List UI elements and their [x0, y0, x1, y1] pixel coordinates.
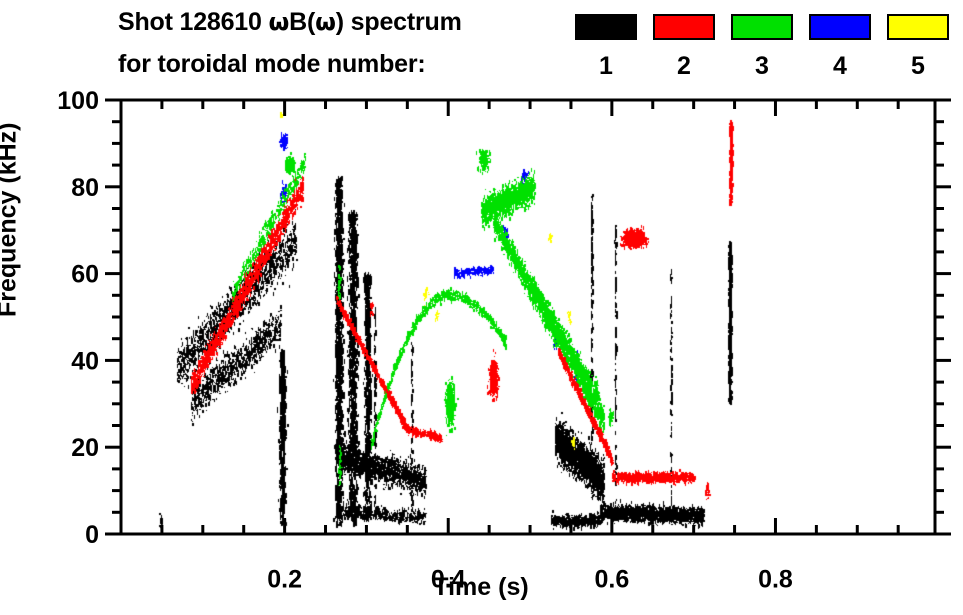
x-axis-title: Time (s): [433, 573, 528, 602]
title-b-text: B(: [289, 8, 315, 36]
legend-swatch-black: [575, 14, 637, 40]
title-spectrum-text: ) spectrum: [336, 8, 462, 36]
legend-entry-2: 2: [653, 0, 715, 80]
y-tick-label-80: 80: [71, 174, 99, 202]
figure-header: Shot 128610 ωB(ω) spectrum for toroidal …: [0, 0, 963, 96]
legend-entry-5: 5: [887, 0, 949, 80]
x-tick-label-0.8: 0.8: [758, 566, 793, 594]
legend: 12345: [575, 0, 963, 96]
spectrogram-canvas: [121, 100, 935, 534]
legend-label-2: 2: [653, 52, 715, 80]
y-tick-label-0: 0: [85, 521, 99, 549]
legend-swatch-red: [653, 14, 715, 40]
y-tick-label-40: 40: [71, 347, 99, 375]
title-shot-text: Shot 128610: [118, 8, 268, 36]
legend-label-5: 5: [887, 52, 949, 80]
figure-title-line-1: Shot 128610 ωB(ω) spectrum: [118, 8, 462, 37]
x-tick-label-0.6: 0.6: [594, 566, 629, 594]
legend-swatch-blue: [809, 14, 871, 40]
legend-label-3: 3: [731, 52, 793, 80]
y-tick-label-20: 20: [71, 434, 99, 462]
figure-title-line-2: for toroidal mode number:: [118, 50, 426, 79]
omega-symbol-1: ω: [268, 8, 289, 36]
spectrogram-figure: Shot 128610 ωB(ω) spectrum for toroidal …: [0, 0, 963, 615]
plot-area: [121, 100, 935, 534]
legend-label-1: 1: [575, 52, 637, 80]
legend-entry-4: 4: [809, 0, 871, 80]
omega-symbol-2: ω: [315, 8, 336, 36]
legend-swatch-yellow: [887, 14, 949, 40]
legend-label-4: 4: [809, 52, 871, 80]
legend-entry-1: 1: [575, 0, 637, 80]
legend-entry-3: 3: [731, 0, 793, 80]
legend-swatch-green: [731, 14, 793, 40]
x-tick-label-0.2: 0.2: [267, 566, 302, 594]
y-tick-label-60: 60: [71, 261, 99, 289]
y-axis-title: Frequency (kHz): [0, 123, 23, 317]
